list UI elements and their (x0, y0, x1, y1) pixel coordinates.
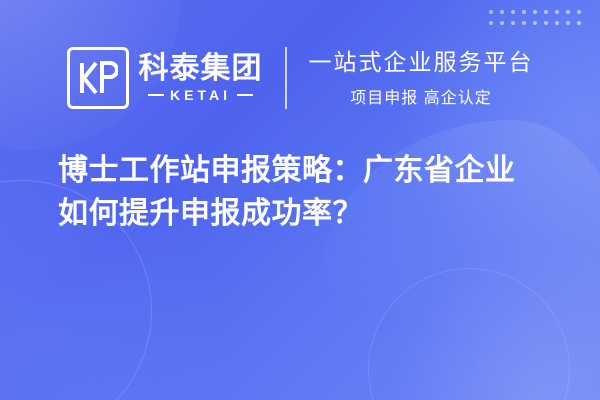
slogan-sub: 项目申报 高企认定 (309, 84, 534, 108)
banner-header: 科泰集团 KETAI 一站式企业服务平台 项目申报 高企认定 (0, 32, 600, 124)
decorative-arc-bottom-right (368, 268, 570, 400)
title-line-1: 博士工作站申报策略：广东省企业 (58, 150, 542, 193)
banner-title: 博士工作站申报策略：广东省企业 如何提升申报成功率？ (0, 150, 600, 235)
brand-name-en: KETAI (170, 87, 231, 103)
slogan-main: 一站式企业服务平台 (309, 48, 534, 77)
kp-monogram-icon (67, 47, 129, 109)
brand-name-en-row: KETAI (148, 87, 253, 103)
decorative-dot-grid (489, 10, 588, 32)
wordmark-rule-right (237, 94, 253, 96)
wordmark-rule-left (148, 94, 164, 96)
brand-logo: 科泰集团 KETAI (67, 47, 285, 109)
brand-name-cn: 科泰集团 (139, 53, 263, 85)
title-line-2: 如何提升申报成功率？ (58, 193, 542, 236)
brand-slogan: 一站式企业服务平台 项目申报 高企认定 (287, 48, 534, 109)
decorative-blob-bottom-right (390, 240, 600, 400)
brand-wordmark: 科泰集团 KETAI (139, 53, 263, 104)
promo-banner: 科泰集团 KETAI 一站式企业服务平台 项目申报 高企认定 博士工作站申报策略… (0, 0, 600, 400)
